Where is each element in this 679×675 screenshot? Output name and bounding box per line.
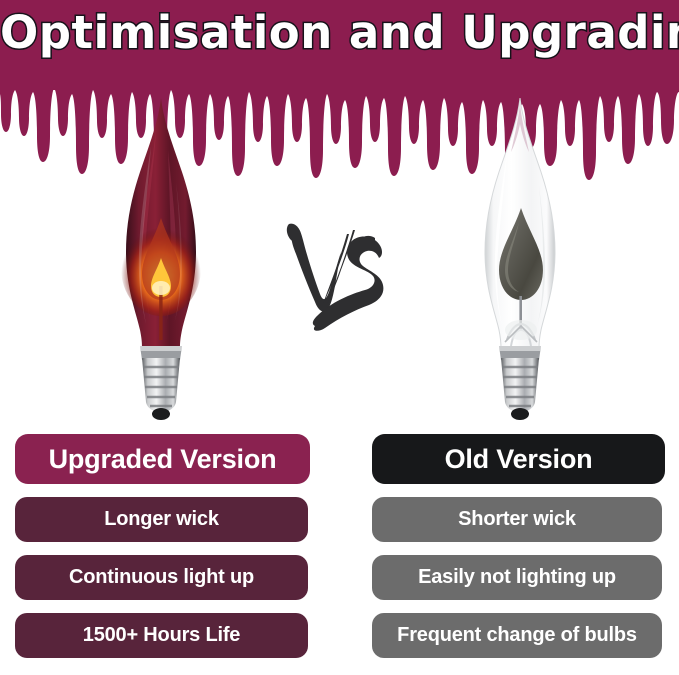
vs-icon — [275, 220, 395, 345]
upgraded-feature-3: 1500+ Hours Life — [15, 613, 308, 658]
old-feature-1-label: Shorter wick — [458, 508, 576, 531]
bulb-comparison-stage — [0, 90, 679, 430]
upgraded-feature-2: Continuous light up — [15, 555, 308, 600]
old-heading-pill: Old Version — [372, 434, 665, 484]
page-title: Optimisation and Upgrading — [0, 6, 679, 59]
upgraded-heading-label: Upgraded Version — [49, 444, 277, 475]
upgraded-heading-pill: Upgraded Version — [15, 434, 310, 484]
old-feature-3: Frequent change of bulbs — [372, 613, 662, 658]
comparison-table: Upgraded Version Longer wick Continuous … — [0, 434, 679, 675]
old-feature-2: Easily not lighting up — [372, 555, 662, 600]
old-heading-label: Old Version — [445, 444, 593, 475]
upgraded-feature-1: Longer wick — [15, 497, 308, 542]
old-feature-3-label: Frequent change of bulbs — [397, 624, 637, 647]
upgraded-column: Upgraded Version Longer wick Continuous … — [15, 434, 310, 658]
upgraded-bulb — [96, 90, 226, 425]
old-feature-list: Shorter wick Easily not lighting up Freq… — [372, 497, 667, 658]
old-feature-2-label: Easily not lighting up — [418, 566, 616, 589]
old-feature-1: Shorter wick — [372, 497, 662, 542]
upgraded-feature-list: Longer wick Continuous light up 1500+ Ho… — [15, 497, 310, 658]
upgraded-feature-2-label: Continuous light up — [69, 566, 254, 589]
old-column: Old Version Shorter wick Easily not ligh… — [372, 434, 667, 658]
upgraded-feature-3-label: 1500+ Hours Life — [83, 624, 240, 647]
old-bulb — [455, 90, 585, 425]
upgraded-feature-1-label: Longer wick — [104, 508, 219, 531]
